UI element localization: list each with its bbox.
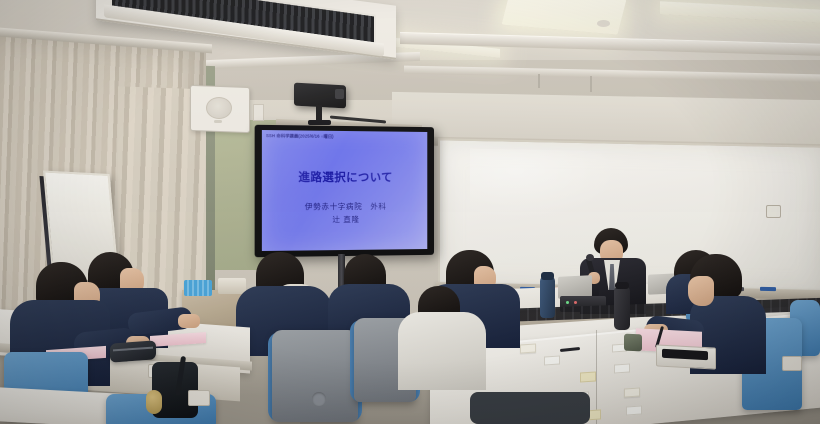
student-torso-white [398,312,486,390]
wall-plate [253,104,264,121]
chair-knob-icon [312,392,326,406]
status-led [574,301,577,304]
paper-card [614,363,630,373]
screen-glare [262,130,427,251]
paper-card [626,405,642,415]
bottle-cap-icon [615,282,629,289]
chair-base [470,392,590,424]
microphone-head-icon [586,254,594,261]
pen-cup-icon [624,334,642,352]
speaker-cone-icon [206,97,232,119]
pencil-case-icon [110,340,156,362]
presentation-slide: SSH 命科学講義(2025/6/16 ○曜日) 進路選択について 伊勢赤十字病… [262,130,427,251]
paper-card [520,343,536,353]
water-bottle-icon [614,286,630,330]
status-led [566,301,569,304]
rail-hanger [538,74,540,88]
projector-lens-icon [335,89,344,99]
paper-card [624,387,640,397]
rail-hanger [590,76,592,92]
power-outlet-icon [782,356,802,371]
storage-basket [184,280,212,296]
office-chair [272,330,358,422]
water-bottle-icon [540,276,555,318]
student-face [688,276,714,306]
classroom-photo: SSH 命科学講義(2025/6/16 ○曜日) 進路選択について 伊勢赤十字病… [0,0,820,424]
smoke-detector-icon [597,20,610,27]
marker-icon [760,287,776,291]
projector-base [308,120,331,125]
student-hand [178,314,200,328]
paper-card [544,355,560,365]
shelf-box [218,278,246,294]
whiteboard-glare [470,149,620,222]
power-outlet-icon [188,390,210,406]
bottle-cap-icon [541,272,554,280]
keychain-charm-icon [146,390,162,414]
speaker-vent [214,120,222,123]
paper-card [580,371,596,382]
whiteboard-clip [766,205,781,218]
